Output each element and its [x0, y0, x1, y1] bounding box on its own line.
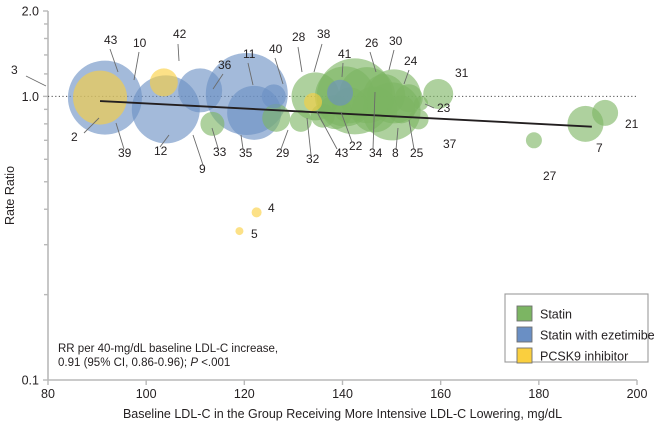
- point-label-28: 28: [292, 30, 306, 44]
- point-label-38: 38: [317, 27, 331, 41]
- point-label-34: 34: [369, 146, 383, 160]
- point-label-9: 9: [199, 162, 206, 176]
- point-label-29: 29: [276, 146, 290, 160]
- point-label-40: 40: [269, 42, 283, 56]
- point-label-41: 41: [338, 47, 352, 61]
- annotation-layer: RR per 40-mg/dL baseline LDL-C increase,…: [58, 343, 278, 369]
- data-bubble-4: [252, 207, 262, 217]
- x-tick-label: 180: [528, 387, 549, 401]
- legend-swatch-1: [517, 306, 532, 321]
- data-bubble-21: [592, 100, 618, 126]
- annotation-line-1: RR per 40-mg/dL baseline LDL-C increase,: [58, 343, 278, 355]
- bubble-chart-figure: 801001201401601802000.11.02.0Baseline LD…: [0, 0, 660, 424]
- y-axis-title: Rate Ratio: [3, 166, 17, 225]
- annotation-p-value: <.001: [198, 357, 230, 369]
- point-label-23: 23: [437, 101, 451, 115]
- point-label-39: 39: [118, 146, 132, 160]
- legend-layer: StatinStatin with ezetimibePCSK9 inhibit…: [505, 294, 655, 364]
- point-label-35: 35: [239, 146, 253, 160]
- point-label-22: 22: [349, 139, 363, 153]
- leader-line-38: [314, 44, 322, 72]
- point-label-24: 24: [404, 54, 418, 68]
- x-tick-label: 200: [627, 387, 648, 401]
- point-label-25: 25: [410, 146, 424, 160]
- leader-line-9: [193, 135, 203, 165]
- point-label-5: 5: [251, 227, 258, 241]
- leader-line-28: [298, 47, 302, 72]
- point-label-12: 12: [154, 144, 168, 158]
- point-label-8: 8: [392, 146, 399, 160]
- point-label-30: 30: [389, 34, 403, 48]
- data-bubble-12: [200, 112, 224, 136]
- point-label-31: 31: [455, 66, 469, 80]
- leader-line-30: [389, 50, 394, 70]
- x-tick-label: 80: [41, 387, 55, 401]
- point-label-4: 4: [268, 201, 275, 215]
- point-label-37: 37: [443, 137, 457, 151]
- legend-label-1: Statin: [540, 308, 572, 322]
- point-label-10: 10: [133, 36, 147, 50]
- x-axis-title: Baseline LDL-C in the Group Receiving Mo…: [123, 407, 562, 421]
- point-label-36: 36: [218, 58, 232, 72]
- legend-label-2: Statin with ezetimibe: [540, 329, 655, 343]
- data-bubble-43: [150, 68, 178, 96]
- bubble-layer: [68, 53, 618, 235]
- point-label-33: 33: [213, 145, 227, 159]
- point-label-21: 21: [625, 117, 639, 131]
- point-label-42: 42: [173, 27, 187, 41]
- data-bubble-5: [235, 227, 243, 235]
- y-tick-label: 0.1: [22, 374, 39, 388]
- point-label-7: 7: [596, 141, 603, 155]
- y-tick-label: 1.0: [22, 90, 39, 104]
- point-label-26: 26: [365, 36, 379, 50]
- annotation-line-2: 0.91 (95% CI, 0.86-0.96); P <.001: [58, 357, 230, 369]
- leader-line-42: [178, 44, 179, 61]
- point-label-43b: 43: [335, 146, 349, 160]
- data-bubble-43b: [304, 93, 322, 111]
- x-tick-label: 160: [430, 387, 451, 401]
- data-bubble-27: [526, 132, 542, 148]
- leader-line-10: [134, 52, 139, 80]
- legend-label-3: PCSK9 inhibitor: [540, 350, 628, 364]
- x-tick-label: 140: [332, 387, 353, 401]
- point-label-27: 27: [543, 169, 557, 183]
- x-tick-label: 120: [234, 387, 255, 401]
- point-label-2: 2: [71, 130, 78, 144]
- annotation-estimate: 0.91 (95% CI, 0.86-0.96);: [58, 357, 190, 369]
- leader-line-3: [26, 76, 46, 86]
- point-label-11: 11: [243, 47, 256, 61]
- legend-swatch-3: [517, 348, 532, 363]
- y-tick-label: 2.0: [22, 5, 39, 19]
- legend-swatch-2: [517, 327, 532, 342]
- data-bubble-23: [414, 96, 428, 110]
- data-bubble-3: [73, 71, 127, 125]
- point-label-32: 32: [306, 152, 320, 166]
- x-tick-label: 100: [136, 387, 157, 401]
- data-bubble-37: [409, 109, 429, 129]
- point-label-43: 43: [104, 33, 118, 47]
- data-bubble-41: [327, 80, 353, 106]
- point-label-3: 3: [11, 63, 18, 77]
- data-bubble-36: [262, 84, 286, 108]
- chart-canvas: 801001201401601802000.11.02.0Baseline LD…: [0, 0, 660, 424]
